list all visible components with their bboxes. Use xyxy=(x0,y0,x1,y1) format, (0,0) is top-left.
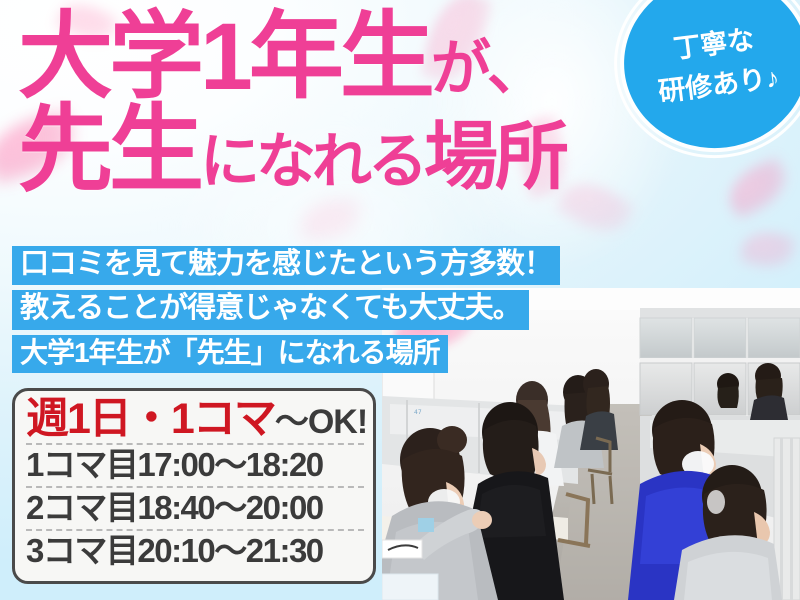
highlight-bar-1: 口コミを見て魅力を感じたという方多数！ xyxy=(12,246,560,285)
headline-line1-comma: 、 xyxy=(487,35,537,102)
schedule-box: 週1日・1コマ〜OK! 1コマ目17:00〜18:20 2コマ目18:40〜20… xyxy=(12,388,376,584)
headline: 大学1年生が、 先生になれる場所 xyxy=(18,8,718,196)
schedule-row-time: 17:00〜18:20 xyxy=(137,446,322,483)
headline-line2-main: 先生 xyxy=(18,97,200,203)
headline-line2-place: 場所 xyxy=(424,115,566,198)
schedule-row-label: 2コマ目 xyxy=(26,489,137,526)
schedule-title-rest: 〜OK! xyxy=(275,403,367,441)
headline-line1-main: 大学1年生 xyxy=(18,4,431,110)
schedule-row: 2コマ目18:40〜20:00 xyxy=(26,486,364,529)
headline-line2-kana: になれる xyxy=(200,128,424,195)
schedule-row-label: 1コマ目 xyxy=(26,446,137,483)
schedule-row-time: 18:40〜20:00 xyxy=(137,489,322,526)
highlight-bar-3: 大学1年生が「先生」になれる場所 xyxy=(12,335,448,373)
schedule-row-time: 20:10〜21:30 xyxy=(137,532,322,569)
schedule-title-highlight: 週1日・1コマ xyxy=(26,395,275,443)
headline-line1-particle: が xyxy=(431,35,487,102)
schedule-title: 週1日・1コマ〜OK! xyxy=(26,398,364,441)
schedule-row: 1コマ目17:00〜18:20 xyxy=(26,443,364,486)
highlight-bars: 口コミを見て魅力を感じたという方多数！ 教えることが得意じゃなくても大丈夫。 大… xyxy=(12,246,560,378)
schedule-row-label: 3コマ目 xyxy=(26,532,137,569)
highlight-bar-2: 教えることが得意じゃなくても大丈夫。 xyxy=(12,290,529,329)
banner-root: 47 xyxy=(0,0,800,600)
schedule-row: 3コマ目20:10〜21:30 xyxy=(26,529,364,572)
